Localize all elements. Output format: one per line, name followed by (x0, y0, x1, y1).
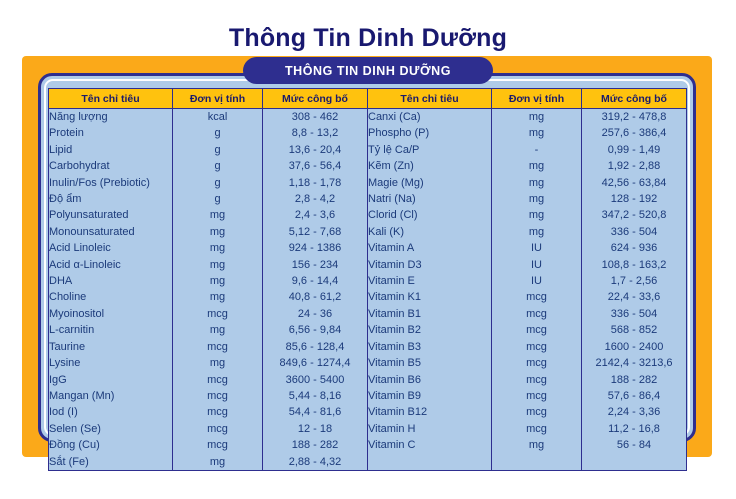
cell-name: DHA (49, 273, 173, 289)
cell-unit: mg (173, 207, 263, 223)
cell-name: Canxi (Ca) (368, 109, 492, 126)
cell-name: Năng lượng (49, 109, 173, 126)
cell-unit: mcg (492, 388, 582, 404)
cell-unit: mcg (492, 289, 582, 305)
column-header-value-left: Mức công bố (263, 89, 368, 109)
cell-unit: g (173, 142, 263, 158)
cell-value: 2,8 - 4,2 (263, 191, 368, 207)
cell-value: 85,6 - 128,4 (263, 339, 368, 355)
table-row: Đồng (Cu)mcg188 - 282Vitamin Cmg56 - 84 (49, 437, 687, 453)
cell-unit: mg (173, 355, 263, 371)
cell-unit: mg (492, 158, 582, 174)
cell-unit: mg (492, 191, 582, 207)
cell-unit: mcg (492, 372, 582, 388)
cell-unit: mcg (492, 421, 582, 437)
cell-value: 8,8 - 13,2 (263, 125, 368, 141)
cell-unit: mg (173, 240, 263, 256)
cell-name: Vitamin B9 (368, 388, 492, 404)
cell-name: Vitamin K1 (368, 289, 492, 305)
cell-value: 336 - 504 (582, 306, 687, 322)
cell-unit: g (173, 125, 263, 141)
cell-name: Độ ẩm (49, 191, 173, 207)
cell-unit (492, 454, 582, 471)
cell-unit: mcg (173, 404, 263, 420)
column-header-name-left: Tên chỉ tiêu (49, 89, 173, 109)
cell-value: 13,6 - 20,4 (263, 142, 368, 158)
cell-name: Kali (K) (368, 224, 492, 240)
cell-name: Tỷ lệ Ca/P (368, 142, 492, 158)
cell-name: Vitamin E (368, 273, 492, 289)
cell-value: 2,4 - 3,6 (263, 207, 368, 223)
cell-name: Vitamin D3 (368, 257, 492, 273)
cell-value: 40,8 - 61,2 (263, 289, 368, 305)
column-header-name-right: Tên chỉ tiêu (368, 89, 492, 109)
cell-unit: mcg (492, 306, 582, 322)
cell-value: 11,2 - 16,8 (582, 421, 687, 437)
cell-value: 624 - 936 (582, 240, 687, 256)
cell-unit: mcg (492, 322, 582, 338)
table-row: L-carnitinmg6,56 - 9,84Vitamin B2mcg568 … (49, 322, 687, 338)
cell-name: Selen (Se) (49, 421, 173, 437)
cell-value: 849,6 - 1274,4 (263, 355, 368, 371)
cell-value: 156 - 234 (263, 257, 368, 273)
nutrition-table: Tên chỉ tiêu Đơn vị tính Mức công bố Tên… (48, 88, 687, 471)
cell-name: Taurine (49, 339, 173, 355)
cell-name: Inulin/Fos (Prebiotic) (49, 175, 173, 191)
cell-name: Đồng (Cu) (49, 437, 173, 453)
cell-name: Phospho (P) (368, 125, 492, 141)
cell-name: Vitamin H (368, 421, 492, 437)
cell-value: 6,56 - 9,84 (263, 322, 368, 338)
table-row: Lysinemg849,6 - 1274,4Vitamin B5mcg2142,… (49, 355, 687, 371)
cell-value: 347,2 - 520,8 (582, 207, 687, 223)
cell-name: Vitamin B1 (368, 306, 492, 322)
cell-value: 42,56 - 63,84 (582, 175, 687, 191)
cell-unit: g (173, 158, 263, 174)
table-row: Mangan (Mn)mcg5,44 - 8,16Vitamin B9mcg57… (49, 388, 687, 404)
cell-unit: mcg (173, 421, 263, 437)
table-row: Selen (Se)mcg12 - 18Vitamin Hmcg11,2 - 1… (49, 421, 687, 437)
cell-name: Lipid (49, 142, 173, 158)
cell-name: Vitamin A (368, 240, 492, 256)
table-row: Năng lượngkcal308 - 462Canxi (Ca)mg319,2… (49, 109, 687, 126)
cell-name: Choline (49, 289, 173, 305)
cell-value: 319,2 - 478,8 (582, 109, 687, 126)
cell-unit: mg (173, 273, 263, 289)
cell-value: 924 - 1386 (263, 240, 368, 256)
cell-value: 9,6 - 14,4 (263, 273, 368, 289)
cell-name: Kẽm (Zn) (368, 158, 492, 174)
cell-value: 336 - 504 (582, 224, 687, 240)
cell-value: 57,6 - 86,4 (582, 388, 687, 404)
cell-name: Polyunsaturated (49, 207, 173, 223)
cell-unit: g (173, 191, 263, 207)
cell-value: 128 - 192 (582, 191, 687, 207)
cell-name: Carbohydrat (49, 158, 173, 174)
table-row: Sắt (Fe)mg2,88 - 4,32 (49, 454, 687, 471)
cell-unit: IU (492, 273, 582, 289)
cell-value: 56 - 84 (582, 437, 687, 453)
cell-name: Iod (I) (49, 404, 173, 420)
table-row: DHAmg9,6 - 14,4Vitamin EIU1,7 - 2,56 (49, 273, 687, 289)
cell-unit: mcg (173, 388, 263, 404)
cell-unit: mg (173, 257, 263, 273)
column-header-unit-left: Đơn vị tính (173, 89, 263, 109)
cell-value: 1,7 - 2,56 (582, 273, 687, 289)
cell-value: 2,24 - 3,36 (582, 404, 687, 420)
cell-value: 1600 - 2400 (582, 339, 687, 355)
cell-unit: mg (492, 207, 582, 223)
cell-name: Monounsaturated (49, 224, 173, 240)
cell-unit: mg (492, 437, 582, 453)
cell-name: Acid Linoleic (49, 240, 173, 256)
cell-value: 5,12 - 7,68 (263, 224, 368, 240)
table-row: Monounsaturatedmg5,12 - 7,68Kali (K)mg33… (49, 224, 687, 240)
table-row: Acid α-Linoleicmg156 - 234Vitamin D3IU10… (49, 257, 687, 273)
cell-value (582, 454, 687, 471)
cell-name: Acid α-Linoleic (49, 257, 173, 273)
cell-name: L-carnitin (49, 322, 173, 338)
table-title-banner: THÔNG TIN DINH DƯỠNG (243, 57, 493, 84)
column-header-value-right: Mức công bố (582, 89, 687, 109)
cell-unit: mcg (492, 355, 582, 371)
table-body: Năng lượngkcal308 - 462Canxi (Ca)mg319,2… (49, 109, 687, 471)
cell-value: 1,18 - 1,78 (263, 175, 368, 191)
cell-unit: mcg (173, 306, 263, 322)
cell-unit: mg (173, 454, 263, 471)
table-row: Proteing8,8 - 13,2Phospho (P)mg257,6 - 3… (49, 125, 687, 141)
cell-unit: mg (492, 109, 582, 126)
cell-value: 257,6 - 386,4 (582, 125, 687, 141)
cell-name: Vitamin B3 (368, 339, 492, 355)
cell-name: Protein (49, 125, 173, 141)
table-row: Độ ẩmg2,8 - 4,2Natri (Na)mg128 - 192 (49, 191, 687, 207)
cell-name: Sắt (Fe) (49, 454, 173, 471)
cell-value: 22,4 - 33,6 (582, 289, 687, 305)
cell-value: 188 - 282 (263, 437, 368, 453)
table-row: Cholinemg40,8 - 61,2Vitamin K1mcg22,4 - … (49, 289, 687, 305)
cell-value: 2,88 - 4,32 (263, 454, 368, 471)
cell-name: Vitamin B5 (368, 355, 492, 371)
cell-unit: g (173, 175, 263, 191)
cell-unit: mg (492, 224, 582, 240)
cell-name: Vitamin B2 (368, 322, 492, 338)
column-header-unit-right: Đơn vị tính (492, 89, 582, 109)
cell-unit: mg (492, 125, 582, 141)
cell-value: 108,8 - 163,2 (582, 257, 687, 273)
cell-unit: mcg (173, 339, 263, 355)
cell-name: Clorid (Cl) (368, 207, 492, 223)
cell-value: 568 - 852 (582, 322, 687, 338)
cell-value: 54,4 - 81,6 (263, 404, 368, 420)
table-row: IgGmcg3600 - 5400Vitamin B6mcg188 - 282 (49, 372, 687, 388)
cell-unit: mcg (492, 339, 582, 355)
cell-name: IgG (49, 372, 173, 388)
cell-value: 188 - 282 (582, 372, 687, 388)
cell-name: Myoinositol (49, 306, 173, 322)
cell-value: 3600 - 5400 (263, 372, 368, 388)
cell-value: 2142,4 - 3213,6 (582, 355, 687, 371)
cell-value: 5,44 - 8,16 (263, 388, 368, 404)
cell-unit: mg (173, 289, 263, 305)
cell-name: Magie (Mg) (368, 175, 492, 191)
table-row: Taurinemcg85,6 - 128,4Vitamin B3mcg1600 … (49, 339, 687, 355)
cell-value: 0,99 - 1,49 (582, 142, 687, 158)
cell-unit: mg (173, 322, 263, 338)
cell-name: Lysine (49, 355, 173, 371)
cell-unit: mcg (173, 372, 263, 388)
table-row: Myoinositolmcg24 - 36Vitamin B1mcg336 - … (49, 306, 687, 322)
cell-name: Vitamin C (368, 437, 492, 453)
table-row: Lipidg13,6 - 20,4Tỷ lệ Ca/P-0,99 - 1,49 (49, 142, 687, 158)
page-title: Thông Tin Dinh Dưỡng (0, 21, 736, 55)
cell-name: Mangan (Mn) (49, 388, 173, 404)
cell-value: 308 - 462 (263, 109, 368, 126)
table-row: Polyunsaturatedmg2,4 - 3,6Clorid (Cl)mg3… (49, 207, 687, 223)
table-row: Carbohydratg37,6 - 56,4Kẽm (Zn)mg1,92 - … (49, 158, 687, 174)
cell-value: 24 - 36 (263, 306, 368, 322)
table-row: Iod (I)mcg54,4 - 81,6Vitamin B12mcg2,24 … (49, 404, 687, 420)
cell-unit: mg (492, 175, 582, 191)
cell-unit: - (492, 142, 582, 158)
cell-value: 12 - 18 (263, 421, 368, 437)
cell-name: Natri (Na) (368, 191, 492, 207)
table-row: Acid Linoleicmg924 - 1386Vitamin AIU624 … (49, 240, 687, 256)
cell-name (368, 454, 492, 471)
cell-unit: mg (173, 224, 263, 240)
table-header-row: Tên chỉ tiêu Đơn vị tính Mức công bố Tên… (49, 89, 687, 109)
cell-unit: mcg (492, 404, 582, 420)
cell-unit: mcg (173, 437, 263, 453)
cell-unit: IU (492, 257, 582, 273)
cell-value: 1,92 - 2,88 (582, 158, 687, 174)
cell-name: Vitamin B12 (368, 404, 492, 420)
cell-unit: IU (492, 240, 582, 256)
cell-name: Vitamin B6 (368, 372, 492, 388)
cell-value: 37,6 - 56,4 (263, 158, 368, 174)
table-row: Inulin/Fos (Prebiotic)g1,18 - 1,78Magie … (49, 175, 687, 191)
cell-unit: kcal (173, 109, 263, 126)
